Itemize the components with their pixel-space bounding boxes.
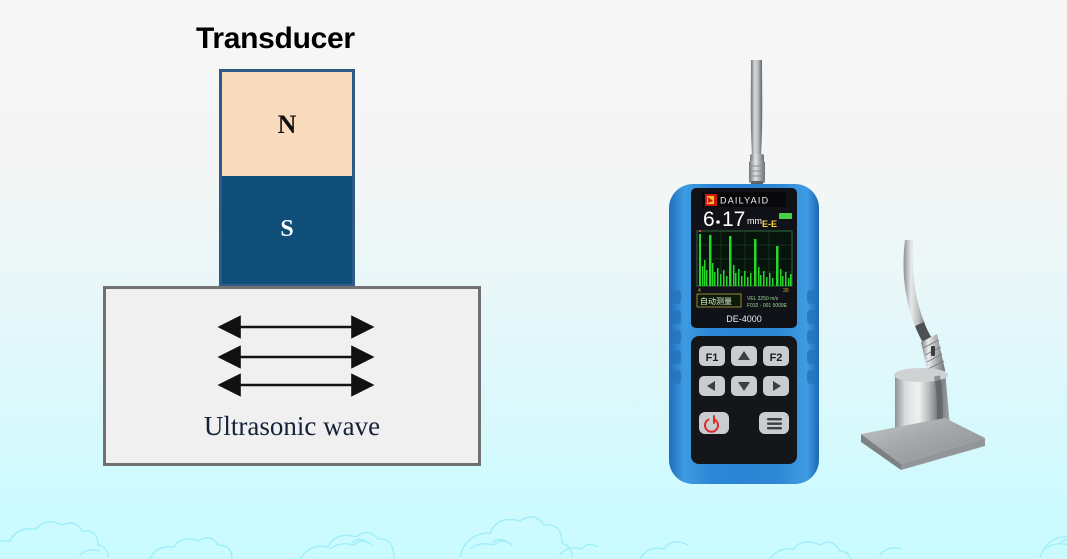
magnet-south-block: S <box>219 176 355 287</box>
magnet-north-label: N <box>222 110 352 140</box>
f2-key-label: F2 <box>770 352 783 364</box>
menu-key[interactable] <box>759 412 789 434</box>
magnet-north-block: N <box>219 69 355 176</box>
reading-mode: E-E <box>762 219 777 229</box>
waveform-plot: 4 30 <box>697 230 792 294</box>
axis-min-label: 4 <box>698 288 701 294</box>
slide-canvas: Transducer N S Ultrasonic wave <box>0 0 1067 559</box>
cloud-decoration <box>0 469 1067 559</box>
power-key[interactable] <box>699 412 729 434</box>
ultrasonic-probe[interactable] <box>845 238 990 473</box>
reading-decimal-point <box>716 220 720 224</box>
calibration-block <box>861 418 985 464</box>
wave-arrows <box>106 289 484 469</box>
f1-key-label: F1 <box>706 352 719 364</box>
reading-decimal: 17 <box>722 208 745 231</box>
page-title: Transducer <box>196 22 355 56</box>
brand-logo: DAILYAID <box>702 192 786 207</box>
axis-max-label: 30 <box>783 288 789 294</box>
down-key[interactable] <box>731 376 757 396</box>
device-cable <box>749 60 765 187</box>
velocity-text: VEL 3250 m/s <box>747 296 779 302</box>
right-key[interactable] <box>763 376 789 396</box>
gate-marker <box>699 230 701 232</box>
f2-key[interactable]: F2 <box>763 346 789 366</box>
magnet-south-label: S <box>222 216 352 243</box>
left-key[interactable] <box>699 376 725 396</box>
battery-icon <box>779 213 792 219</box>
file-info-text: F032 - 001 5009E <box>747 303 788 309</box>
reading-integer: 6 <box>703 208 715 231</box>
ultrasonic-wave-box: Ultrasonic wave <box>103 286 481 466</box>
brand-name: DAILYAID <box>720 196 769 206</box>
mode-box-label: 自动测量 <box>700 296 732 306</box>
reading-unit: mm <box>747 216 762 226</box>
ultrasonic-wave-label: Ultrasonic wave <box>106 411 478 442</box>
probe-cable <box>904 240 926 330</box>
up-key[interactable] <box>731 346 757 366</box>
f1-key[interactable]: F1 <box>699 346 725 366</box>
menu-icon <box>767 418 782 429</box>
device-model-label: DE-4000 <box>726 314 762 324</box>
probe-marking <box>931 346 935 356</box>
thickness-gauge-device[interactable]: DAILYAID 6 17 mm E-E <box>655 60 855 500</box>
